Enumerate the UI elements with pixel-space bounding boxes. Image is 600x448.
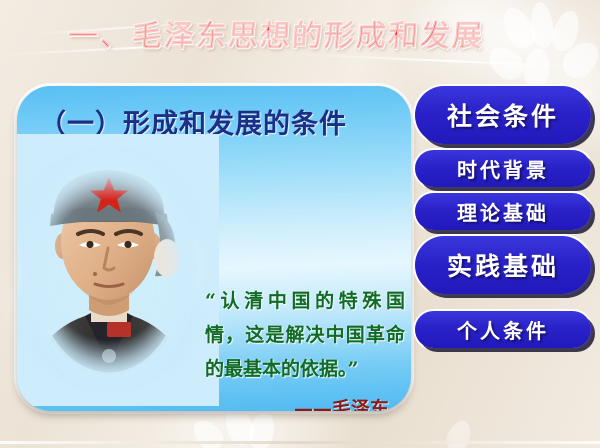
- avatar: [21, 150, 197, 390]
- content-panel: （一）形成和发展的条件: [17, 86, 411, 411]
- bottom-divider: [0, 441, 600, 444]
- slide-canvas: 一、毛泽东思想的形成和发展 （一）形成和发展的条件: [0, 0, 600, 448]
- button-theoretical-basis[interactable]: 理论基础: [415, 193, 591, 230]
- portrait-fade: [17, 134, 219, 406]
- condition-button-list: 社会条件 时代背景 理论基础 实践基础 个人条件: [415, 86, 591, 374]
- page-title: 一、毛泽东思想的形成和发展: [67, 16, 500, 58]
- quote-text: “认清中国的特殊国情，这是解决中国革命的最基本的依据。”: [205, 284, 405, 386]
- button-practical-basis[interactable]: 实践基础: [415, 236, 591, 294]
- quote-attribution: ——毛泽东: [294, 394, 389, 411]
- button-social-conditions[interactable]: 社会条件: [415, 86, 591, 144]
- button-personal-conditions[interactable]: 个人条件: [415, 311, 591, 348]
- button-era-background[interactable]: 时代背景: [415, 150, 591, 187]
- flower-petal-icon: [521, 46, 552, 89]
